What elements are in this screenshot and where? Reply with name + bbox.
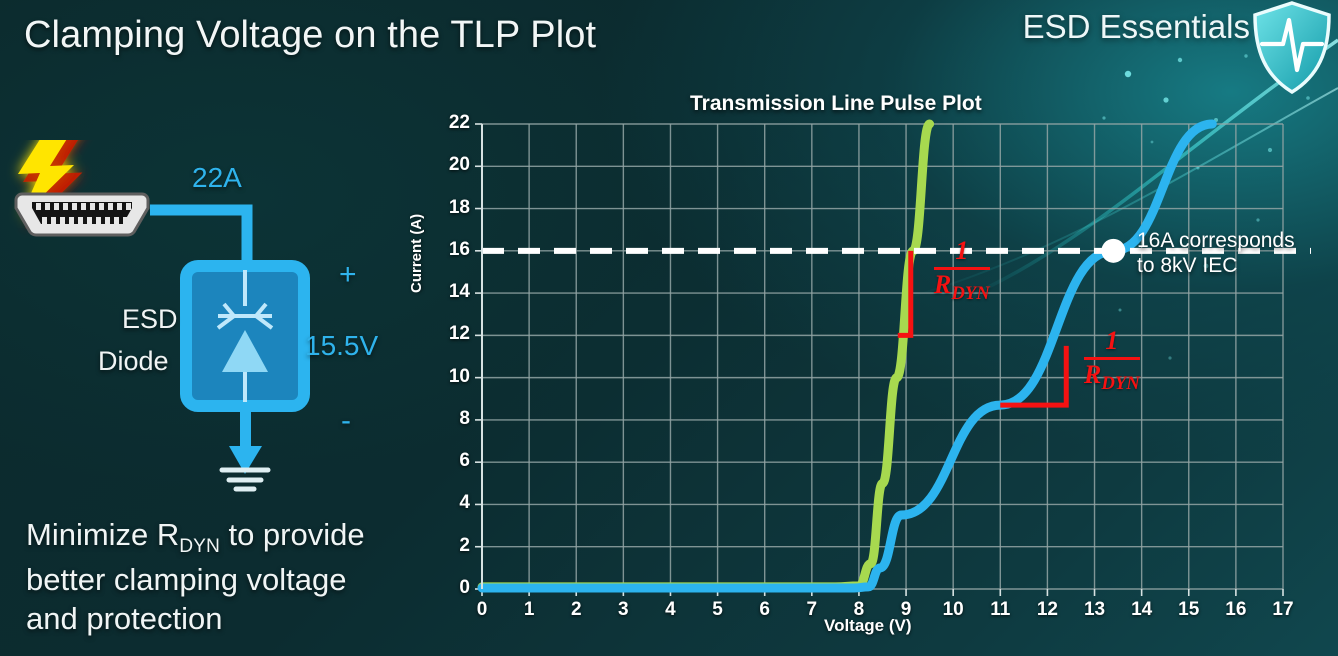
note-line1-sub: DYN	[179, 536, 220, 557]
polarity-plus: +	[339, 258, 357, 292]
slope-callout-green: 1 RDYN	[934, 238, 990, 304]
y-tick-8: 8	[436, 408, 470, 430]
y-tick-6: 6	[436, 450, 470, 472]
shield-pulse-icon	[1250, 0, 1334, 96]
green-callout-numerator: 1	[934, 238, 990, 264]
clamp-voltage-label: 15.5V	[305, 330, 378, 362]
y-tick-2: 2	[436, 535, 470, 557]
ground-wire	[229, 404, 262, 474]
x-tick-17: 17	[1268, 599, 1298, 621]
x-tick-10: 10	[938, 599, 968, 621]
x-tick-8: 8	[844, 599, 874, 621]
note-line1-pre: Minimize R	[26, 517, 179, 552]
x-tick-0: 0	[467, 599, 497, 621]
brand-name: ESD Essentials	[1023, 8, 1250, 46]
operating-point-annotation: 16A corresponds to 8kV IEC	[1137, 228, 1337, 278]
y-tick-16: 16	[436, 239, 470, 261]
surge-current-label: 22A	[192, 162, 242, 194]
circuit-svg	[0, 140, 420, 500]
x-tick-13: 13	[1080, 599, 1110, 621]
y-tick-22: 22	[436, 112, 470, 134]
slide-canvas: Clamping Voltage on the TLP Plot ESD Ess…	[0, 0, 1338, 656]
plot-area	[412, 88, 1338, 648]
y-tick-14: 14	[436, 281, 470, 303]
note-line3: and protection	[26, 601, 222, 636]
series-low-rdyn-device	[482, 124, 930, 587]
y-tick-4: 4	[436, 492, 470, 514]
green-callout-denominator: RDYN	[934, 271, 990, 304]
x-tick-12: 12	[1032, 599, 1062, 621]
tlp-chart: Transmission Line Pulse Plot Current (A)…	[412, 88, 1338, 648]
x-tick-3: 3	[608, 599, 638, 621]
device-label-diode: Diode	[98, 346, 169, 377]
x-tick-4: 4	[655, 599, 685, 621]
x-tick-14: 14	[1127, 599, 1157, 621]
esd-protection-circuit-diagram: 22A ESD Diode 15.5V + -	[0, 140, 420, 500]
device-label-esd: ESD	[122, 304, 178, 335]
x-tick-2: 2	[561, 599, 591, 621]
blue-callout-denominator: RDYN	[1084, 361, 1140, 394]
annotation-line-1: 16A corresponds	[1137, 228, 1337, 253]
polarity-minus: -	[341, 404, 351, 438]
y-tick-12: 12	[436, 323, 470, 345]
y-tick-10: 10	[436, 366, 470, 388]
x-tick-11: 11	[985, 599, 1015, 621]
y-axis-label: Current (A)	[408, 214, 425, 293]
y-tick-0: 0	[436, 577, 470, 599]
chart-title: Transmission Line Pulse Plot	[690, 92, 982, 116]
page-title: Clamping Voltage on the TLP Plot	[24, 14, 596, 57]
note-line1-post: to provide	[220, 517, 365, 552]
y-tick-18: 18	[436, 197, 470, 219]
summary-note: Minimize RDYN to provide better clamping…	[26, 515, 426, 639]
x-tick-6: 6	[750, 599, 780, 621]
x-tick-15: 15	[1174, 599, 1204, 621]
note-line2: better clamping voltage	[26, 562, 347, 597]
x-tick-9: 9	[891, 599, 921, 621]
x-tick-5: 5	[703, 599, 733, 621]
hdmi-connector-icon	[16, 194, 148, 235]
slope-callout-blue: 1 RDYN	[1084, 328, 1140, 394]
annotation-line-2: to 8kV IEC	[1137, 253, 1337, 278]
marker-operating-point	[1101, 239, 1125, 263]
y-tick-20: 20	[436, 154, 470, 176]
x-tick-1: 1	[514, 599, 544, 621]
circuit-wire	[150, 210, 247, 266]
x-tick-7: 7	[797, 599, 827, 621]
blue-callout-numerator: 1	[1084, 328, 1140, 354]
x-tick-16: 16	[1221, 599, 1251, 621]
